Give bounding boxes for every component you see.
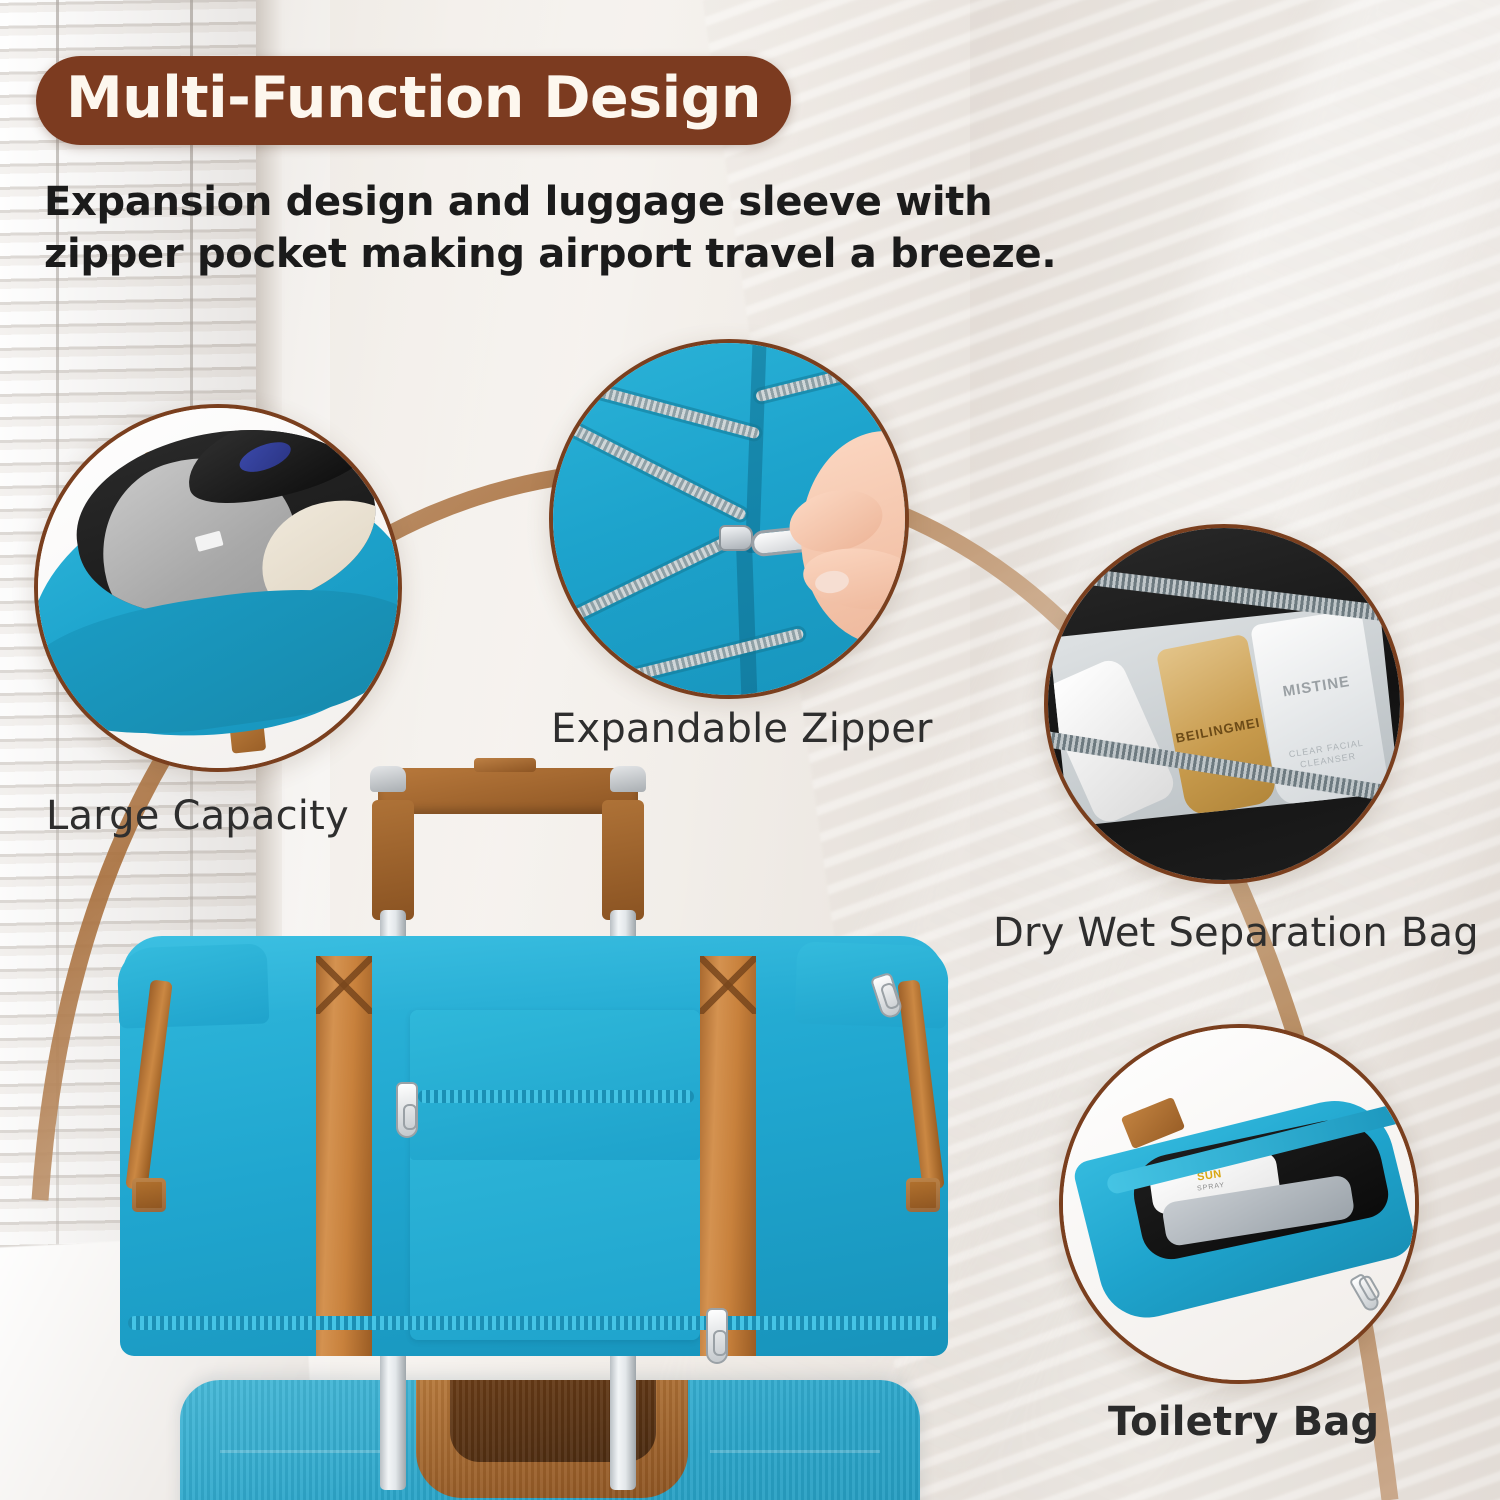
handle-arm — [372, 800, 414, 920]
inset-dry-wet-separation: BEILINGMEI MISTINE CLEAR FACIAL CLEANSER — [1044, 524, 1404, 884]
zipper-pull-icon — [706, 1308, 728, 1364]
photo-dry-wet-bag: BEILINGMEI MISTINE CLEAR FACIAL CLEANSER — [1048, 528, 1400, 880]
expansion-zipper-bottom — [128, 1316, 940, 1330]
page-subtitle: Expansion design and luggage sleeve with… — [44, 176, 1064, 280]
caption-expandable-zipper: Expandable Zipper — [551, 706, 933, 752]
handle-arm — [602, 800, 644, 920]
caption-toiletry-bag: Toiletry Bag — [1108, 1399, 1379, 1445]
caption-dry-wet-separation: Dry Wet Separation Bag — [993, 910, 1479, 956]
suitcase-handle-plate — [416, 1380, 688, 1498]
zipper-pull-icon — [396, 1082, 418, 1138]
handle-cap — [610, 766, 646, 792]
main-product-photo — [120, 760, 980, 1500]
inset-expandable-zipper — [549, 339, 909, 699]
carry-strap-right — [700, 956, 756, 1356]
mistine-brand: MISTINE — [1260, 670, 1373, 704]
caption-large-capacity: Large Capacity — [46, 793, 349, 839]
photo-open-duffel — [38, 408, 398, 768]
carry-strap-left — [316, 956, 372, 1356]
zipper-slider — [719, 525, 753, 551]
luggage-handle-grip — [378, 768, 638, 814]
handle-cap — [370, 766, 406, 792]
gold-tube-brand: BEILINGMEI — [1171, 714, 1264, 746]
title-badge: Multi-Function Design — [36, 56, 791, 145]
strap-buckle-right — [906, 1178, 940, 1212]
page-title: Multi-Function Design — [66, 70, 761, 127]
strap-buckle-left — [132, 1178, 166, 1212]
front-zipper-pocket — [410, 1010, 700, 1160]
front-pocket-zipper — [418, 1090, 694, 1103]
rolling-suitcase — [180, 1380, 920, 1500]
strap-stitch-x — [700, 956, 756, 1014]
photo-toiletry-bag: SUN SPRAY — [1063, 1028, 1415, 1380]
duffel-bag-left-corner — [117, 943, 270, 1028]
inset-toiletry-bag: SUN SPRAY — [1059, 1024, 1419, 1384]
shirt-tag — [195, 531, 224, 552]
photo-expandable-zipper — [553, 343, 905, 695]
inset-large-capacity — [34, 404, 402, 772]
strap-stitch-x — [316, 956, 372, 1014]
